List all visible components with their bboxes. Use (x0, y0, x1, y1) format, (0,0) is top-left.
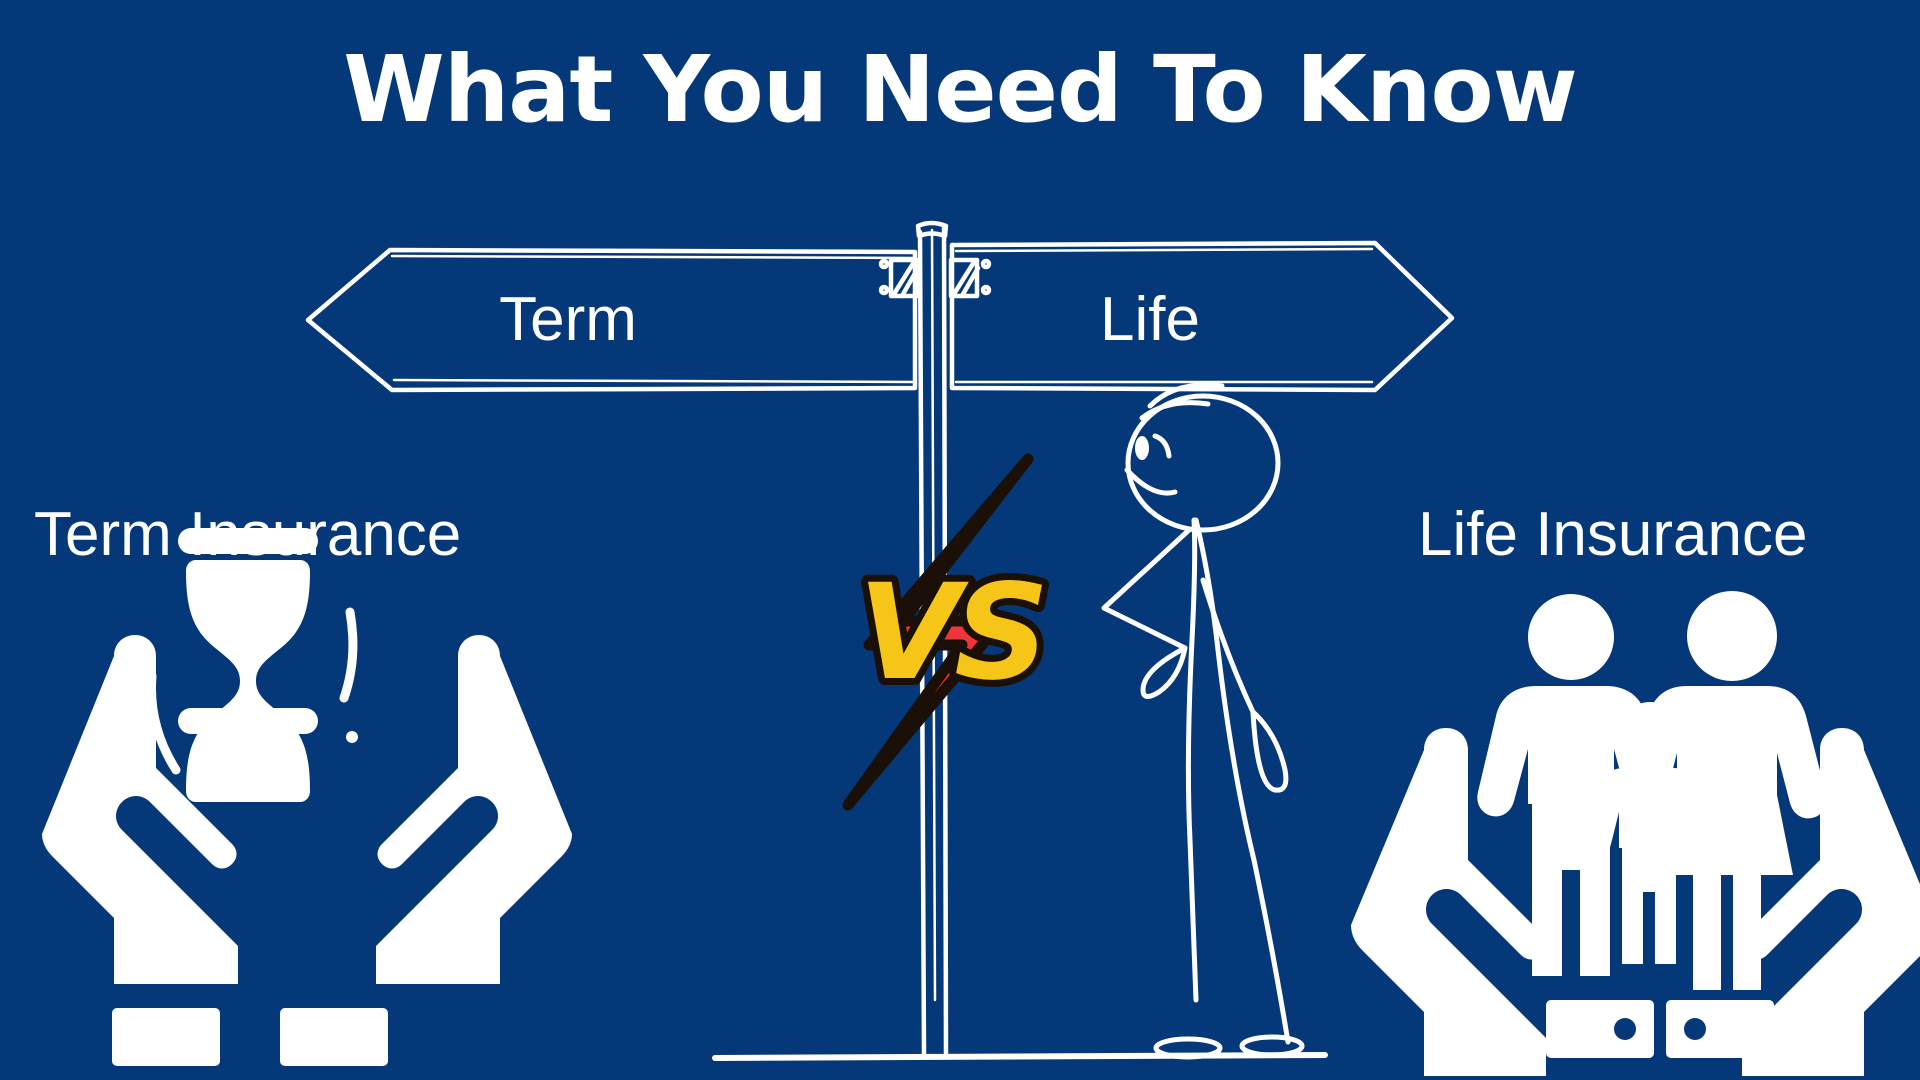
right-category-label: Life Insurance (1418, 500, 1807, 570)
left-category-label: Term Insurance (34, 500, 461, 570)
infographic-canvas: Term Life (0, 0, 1920, 1080)
vs-text-glyphs: VS (858, 556, 1043, 710)
page-title: What You Need To Know (0, 38, 1920, 142)
vs-text: VS (858, 556, 1043, 710)
